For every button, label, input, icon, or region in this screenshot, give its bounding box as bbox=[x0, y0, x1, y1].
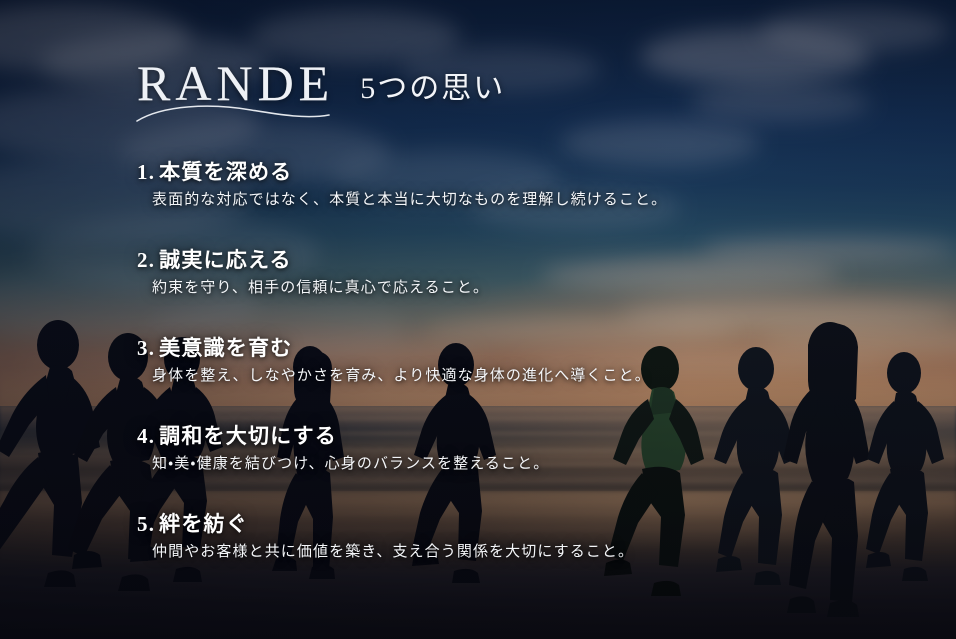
logo-wordmark: RANDE bbox=[137, 58, 334, 108]
principle-number-4: 4. bbox=[137, 424, 155, 448]
principle-title-5: 絆を紡ぐ bbox=[159, 512, 248, 536]
principle-heading-1: 1.本質を深める bbox=[137, 158, 956, 186]
principle-number-2: 2. bbox=[137, 248, 155, 272]
slide-root: RANDE 5つの思い 1.本質を深める 表面的な対応ではなく、本質と本当に大切… bbox=[0, 0, 956, 639]
principle-description-4: 知・美・健康を結びつけ、心身のバランスを整えること。 bbox=[137, 453, 956, 476]
principle-title-4: 調和を大切にする bbox=[159, 424, 337, 448]
principle-title-1: 本質を深める bbox=[159, 160, 292, 184]
principle-description-1: 表面的な対応ではなく、本質と本当に大切なものを理解し続けること。 bbox=[137, 189, 956, 212]
principle-number-5: 5. bbox=[137, 512, 155, 536]
principle-item-2: 2.誠実に応える 約束を守り、相手の信頼に真心で応えること。 bbox=[0, 246, 956, 334]
principle-title-3: 美意識を育む bbox=[159, 336, 292, 360]
principle-description-5: 仲間やお客様と共に価値を築き、支え合う関係を大切にすること。 bbox=[137, 541, 956, 564]
logo-tagline: 5つの思い bbox=[360, 74, 505, 108]
principle-heading-5: 5.絆を紡ぐ bbox=[137, 510, 956, 538]
principle-item-3: 3.美意識を育む 身体を整え、しなやかさを育み、より快適な身体の進化へ導くこと。 bbox=[0, 334, 956, 422]
logo-wordmark-wrap: RANDE bbox=[137, 58, 334, 108]
principle-description-2: 約束を守り、相手の信頼に真心で応えること。 bbox=[137, 277, 956, 300]
principle-item-1: 1.本質を深める 表面的な対応ではなく、本質と本当に大切なものを理解し続けること… bbox=[0, 158, 956, 246]
principle-item-4: 4.調和を大切にする 知・美・健康を結びつけ、心身のバランスを整えること。 bbox=[0, 422, 956, 510]
principle-title-2: 誠実に応える bbox=[159, 248, 292, 272]
logo-block: RANDE 5つの思い bbox=[137, 58, 505, 108]
principle-number-1: 1. bbox=[137, 160, 155, 184]
principle-heading-2: 2.誠実に応える bbox=[137, 246, 956, 274]
slide-content: RANDE 5つの思い 1.本質を深める 表面的な対応ではなく、本質と本当に大切… bbox=[0, 0, 956, 639]
principle-heading-4: 4.調和を大切にする bbox=[137, 422, 956, 450]
principles-list: 1.本質を深める 表面的な対応ではなく、本質と本当に大切なものを理解し続けること… bbox=[0, 158, 956, 598]
principle-heading-3: 3.美意識を育む bbox=[137, 334, 956, 362]
principle-number-3: 3. bbox=[137, 336, 155, 360]
principle-description-3: 身体を整え、しなやかさを育み、より快適な身体の進化へ導くこと。 bbox=[137, 365, 956, 388]
principle-item-5: 5.絆を紡ぐ 仲間やお客様と共に価値を築き、支え合う関係を大切にすること。 bbox=[0, 510, 956, 598]
